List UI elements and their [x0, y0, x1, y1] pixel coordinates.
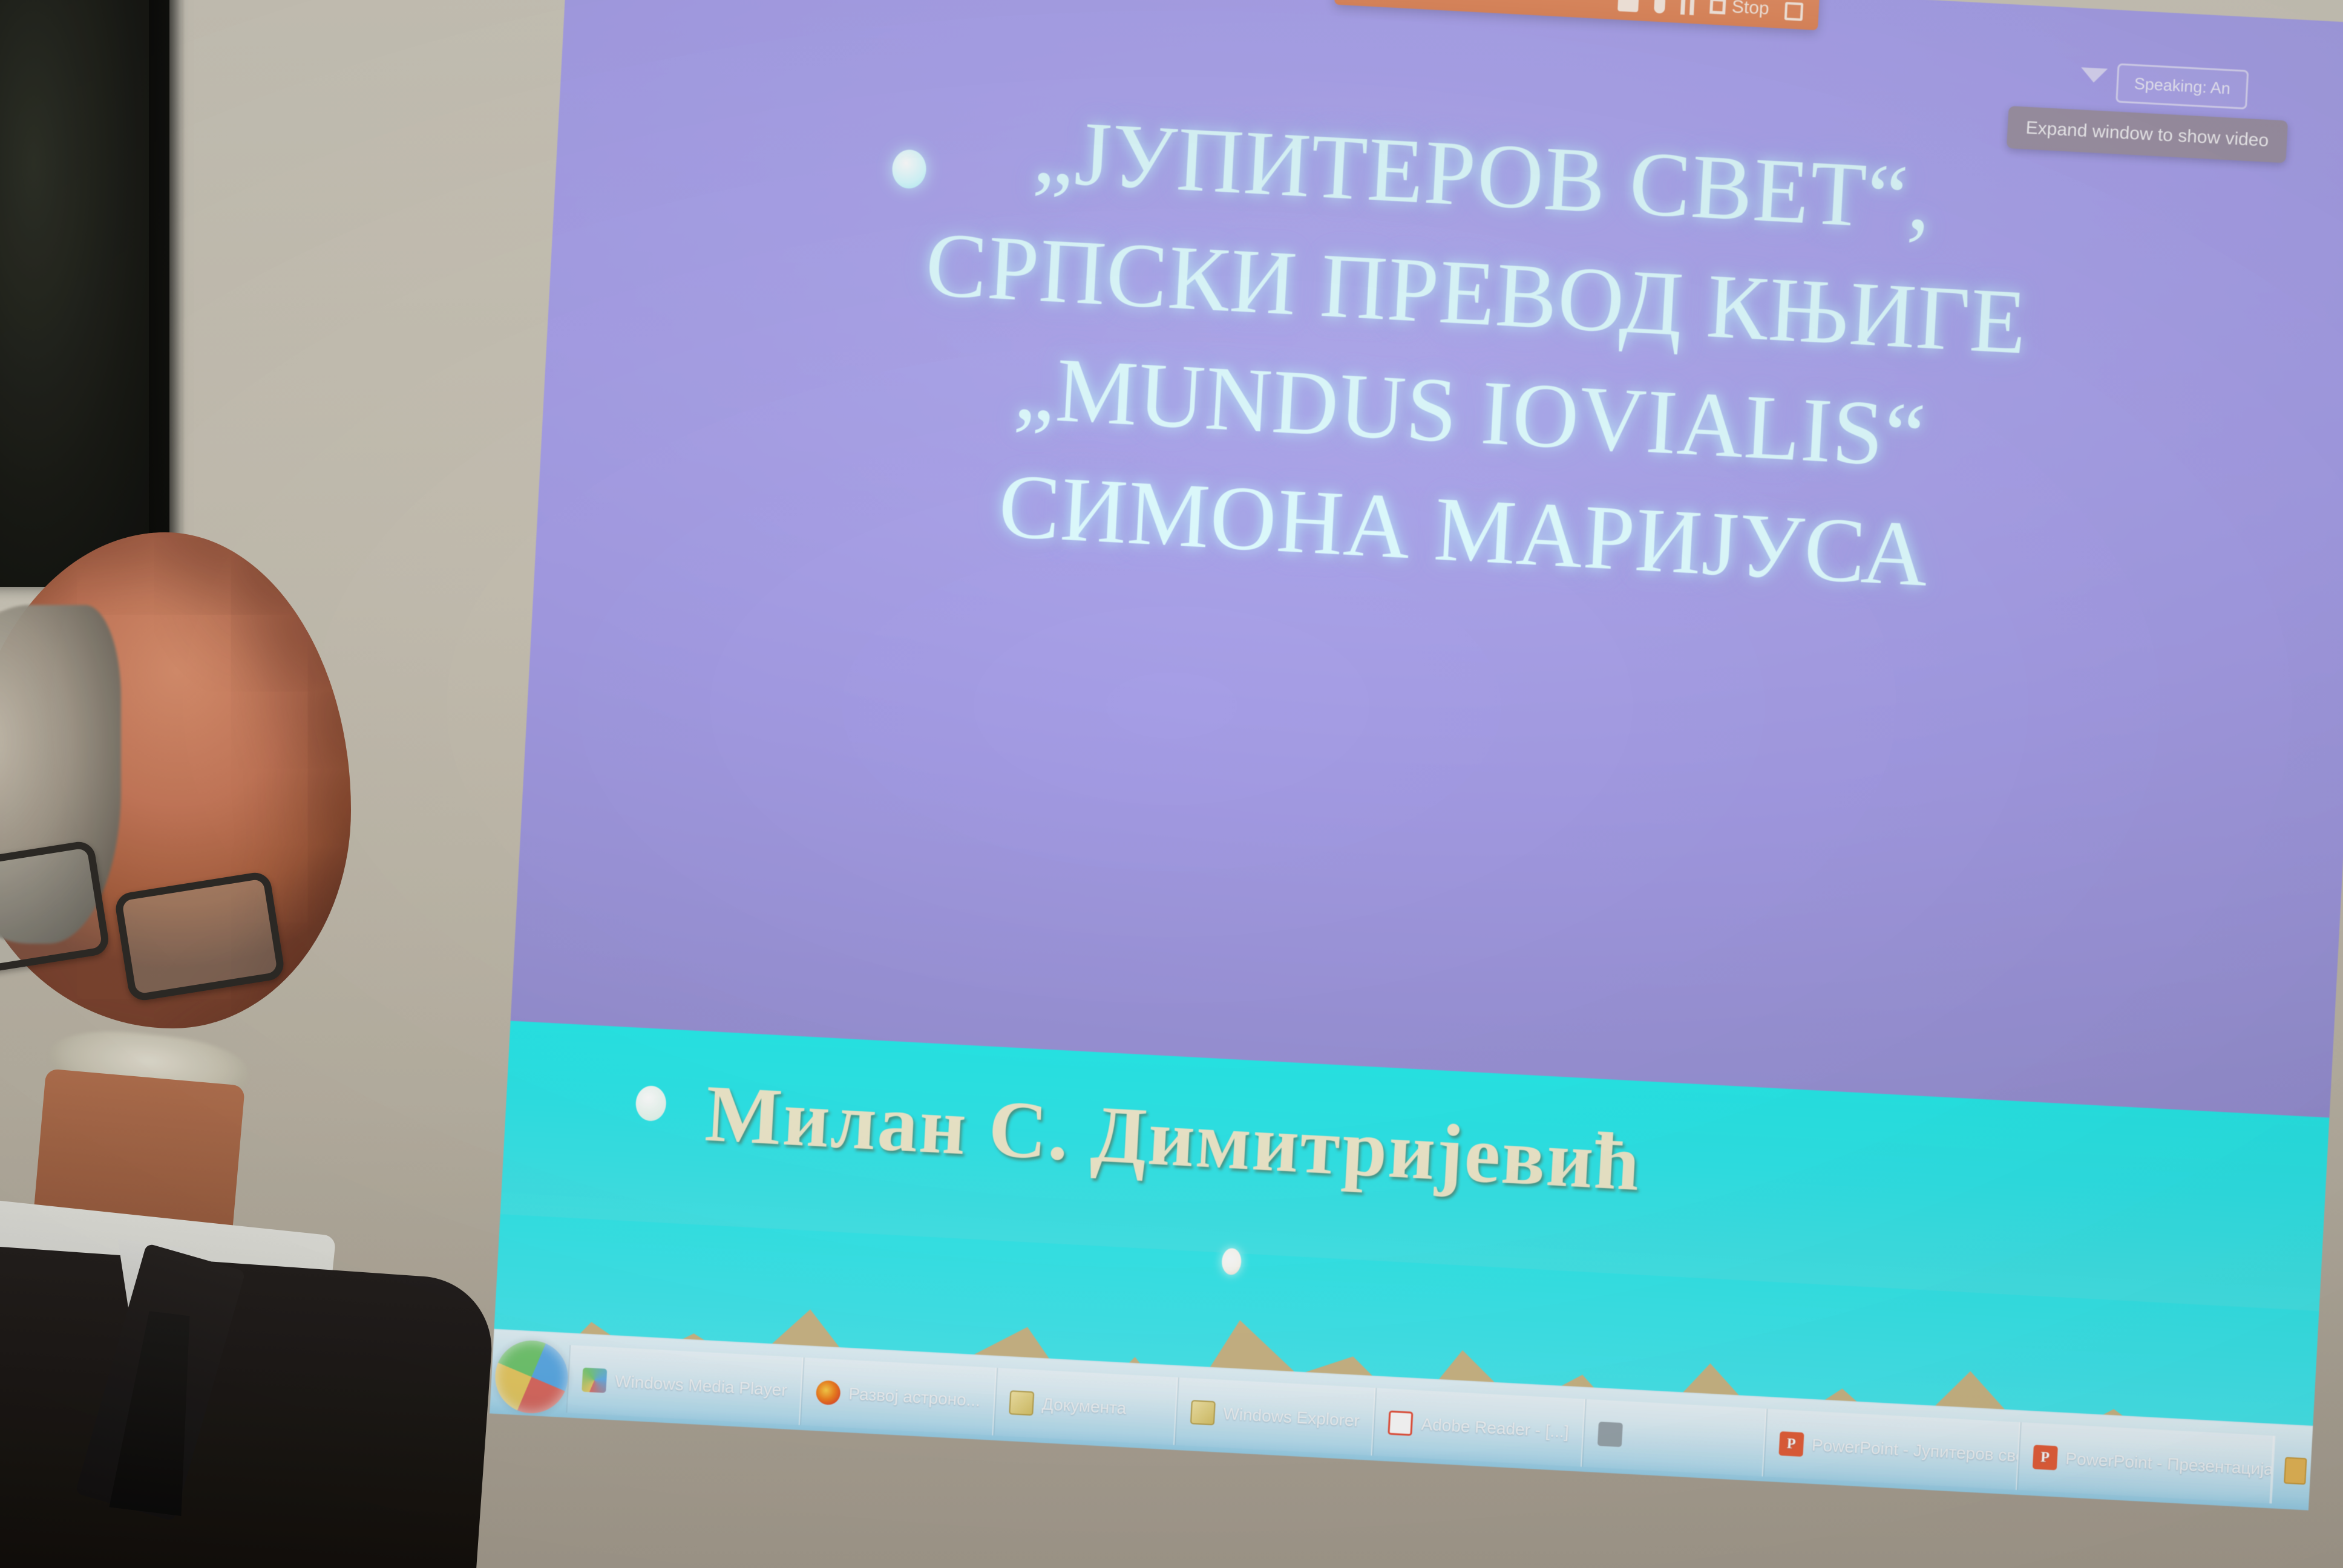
taskbar-item-label: PowerPoint - Презентација [2065, 1449, 2274, 1479]
expand-icon [1784, 2, 1804, 21]
start-button[interactable] [493, 1339, 569, 1415]
taskbar-item-explorer[interactable]: Windows Explorer [1175, 1377, 1376, 1455]
pdf-icon [1388, 1411, 1414, 1436]
taskbar-item-label: Adobe Reader - [...] [1421, 1414, 1570, 1442]
photo-scene: „ЈУПИТЕРОВ СВЕТ“, СРПСКИ ПРЕВОД КЊИГЕ „M… [0, 0, 2343, 1568]
grey-window-icon [1597, 1422, 1623, 1447]
microphone-button[interactable] [1654, 0, 1666, 14]
taskbar-item-label: Документа [1041, 1394, 1127, 1418]
dark-wall-panel [0, 0, 169, 587]
taskbar-item-misc-window[interactable] [1582, 1399, 1767, 1477]
pause-button[interactable] [1680, 0, 1695, 15]
taskbar-item-firefox[interactable]: Развој астроно... [800, 1357, 997, 1436]
stop-square-icon [1709, 0, 1726, 15]
pause-icon [1680, 0, 1695, 15]
speaking-indicator[interactable]: Speaking: An [2115, 64, 2249, 109]
taskbar-item-powerpoint-2[interactable]: P PowerPoint - Презентација [2017, 1422, 2274, 1503]
conference-controls: Speaking: An Expand window to show video [2010, 35, 2343, 189]
firefox-icon [815, 1380, 841, 1405]
presenter-suit [0, 1236, 496, 1568]
taskbar-item-powerpoint-1[interactable]: P PowerPoint - Јупитеров свет [1763, 1409, 2020, 1490]
chevron-down-icon[interactable] [2080, 67, 2108, 83]
eyeglasses-icon [0, 847, 315, 980]
taskbar-item-media-player[interactable]: Windows Media Player [566, 1345, 803, 1425]
stop-button-label: Stop [1731, 0, 1769, 19]
expand-button[interactable] [1784, 2, 1804, 21]
projection-screen: „ЈУПИТЕРОВ СВЕТ“, СРПСКИ ПРЕВОД КЊИГЕ „M… [490, 0, 2343, 1511]
windows-media-icon [582, 1368, 607, 1393]
camera-icon [1617, 0, 1639, 12]
taskbar-item-label: Windows Explorer [1223, 1404, 1360, 1431]
taskbar-item-adobe-reader[interactable]: Adobe Reader - [...] [1372, 1388, 1585, 1466]
stop-button[interactable]: Stop [1709, 0, 1769, 19]
notes-icon[interactable] [2284, 1457, 2307, 1485]
taskbar-item-label: PowerPoint - Јупитеров свет [1811, 1436, 2020, 1466]
camera-button[interactable] [1617, 0, 1639, 12]
microphone-icon [1654, 0, 1666, 14]
taskbar-item-label: Развој астроно... [848, 1384, 981, 1411]
powerpoint-icon: P [1778, 1431, 1804, 1457]
explorer-icon [1009, 1390, 1034, 1416]
presenter [0, 532, 484, 1568]
powerpoint-icon: P [2033, 1445, 2058, 1470]
taskbar-item-label: Windows Media Player [614, 1371, 787, 1400]
explorer-icon [1190, 1400, 1215, 1425]
glasses-lens-left [0, 840, 111, 982]
taskbar-item-documents[interactable]: Документа [993, 1368, 1178, 1445]
expand-window-tooltip: Expand window to show video [2007, 106, 2288, 163]
